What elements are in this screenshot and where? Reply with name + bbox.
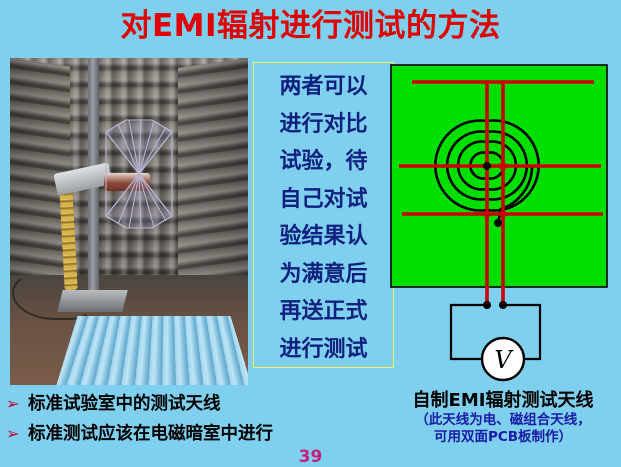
caption-subtitle-line2: 可用双面PCB板制作） (385, 429, 621, 446)
diy-antenna-diagram: V (388, 62, 616, 384)
terminal-dot (499, 301, 507, 309)
junction-dot (499, 210, 506, 217)
voltmeter-label: V (494, 346, 514, 374)
textbox-line: 验结果认 (254, 218, 393, 256)
explanation-textbox: 两者可以 进行对比 试验，待 自己对试 验结果认 为满意后 再送正式 进行测试 (253, 62, 394, 368)
junction-dot (499, 162, 507, 170)
textbox-line: 进行对比 (254, 106, 393, 144)
antenna-mast-base (57, 290, 127, 312)
textbox-line: 试验，待 (254, 143, 393, 181)
anechoic-chamber-photo (10, 58, 248, 385)
list-item: ➢ 标准测试应该在电磁暗室中进行 (6, 422, 306, 448)
diagram-caption: 自制EMI辐射测试天线 （此天线为电、磁组合天线， 可用双面PCB板制作） (385, 390, 621, 446)
textbox-line: 为满意后 (254, 256, 393, 294)
junction-dot (483, 162, 491, 170)
slide-canvas: 对EMI辐射进行测试的方法 (0, 0, 621, 467)
caption-title: 自制EMI辐射测试天线 (385, 390, 621, 412)
textbox-line: 两者可以 (254, 68, 393, 106)
junction-dot (494, 219, 502, 227)
caption-subtitle-line1: （此天线为电、磁组合天线， (385, 412, 621, 429)
bullet-list: ➢ 标准试验室中的测试天线 ➢ 标准测试应该在电磁暗室中进行 (6, 392, 306, 452)
arrow-bullet-icon: ➢ (6, 392, 28, 416)
page-title: 对EMI辐射进行测试的方法 (0, 8, 621, 44)
page-number: 39 (0, 447, 621, 467)
biconical-antenna-icon (96, 110, 182, 238)
list-item-label: 标准测试应该在电磁暗室中进行 (28, 422, 273, 446)
junction-dot (483, 210, 490, 217)
list-item: ➢ 标准试验室中的测试天线 (6, 392, 306, 418)
textbox-line: 再送正式 (254, 293, 393, 331)
terminal-dot (483, 301, 491, 309)
list-item-label: 标准试验室中的测试天线 (28, 392, 221, 416)
arrow-bullet-icon: ➢ (6, 422, 28, 446)
textbox-line: 进行测试 (254, 331, 393, 369)
blue-foam-absorbers (54, 316, 248, 385)
textbox-line: 自己对试 (254, 181, 393, 219)
